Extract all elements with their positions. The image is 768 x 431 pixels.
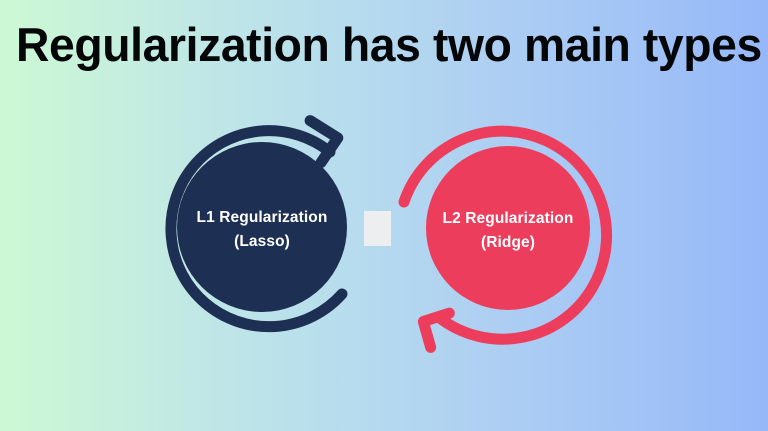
l1-circle[interactable] bbox=[177, 142, 347, 312]
l1-node-group[interactable] bbox=[171, 117, 347, 327]
slide-canvas: Regularization has two main types L1 Reg… bbox=[0, 0, 768, 431]
l2-arrowhead-icon bbox=[421, 311, 450, 349]
l2-node-group[interactable] bbox=[404, 131, 607, 349]
center-connector-block bbox=[364, 211, 391, 246]
l2-circle[interactable] bbox=[426, 146, 590, 310]
